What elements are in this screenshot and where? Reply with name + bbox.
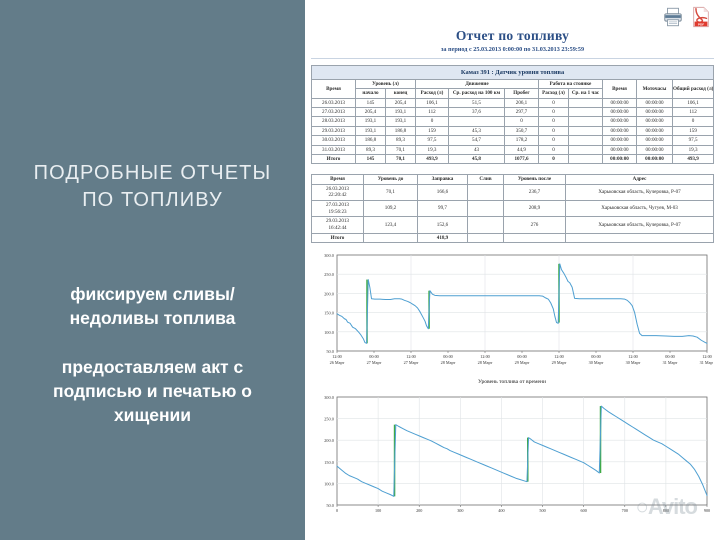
table-row: 30.03.2013186,889,397,554,7178,2000:00:0… [312,136,714,145]
svg-text:150.0: 150.0 [324,460,335,465]
svg-text:12:00: 12:00 [480,354,490,359]
svg-text:31 Март: 31 Март [663,360,678,365]
table-row: 26.03.2013145205,4106,151,5206,1000:00:0… [312,98,714,107]
svg-text:300.0: 300.0 [324,395,335,400]
th-уровень-после: Уровень после [504,175,566,185]
cell-date: 28.03.2013 [312,117,356,126]
svg-text:600: 600 [581,508,587,513]
svg-text:300: 300 [457,508,463,513]
svg-text:30 Март: 30 Март [589,360,604,365]
svg-text:250.0: 250.0 [324,417,335,422]
promo-sub-line2: недоливы топлива [0,306,305,330]
th-уровень-до: Уровень до [364,175,418,185]
report-title: Отчет по топливу [305,28,720,44]
th-заправка: Заправка [418,175,468,185]
svg-text:500: 500 [539,508,545,513]
promo-sub2-line3: хищении [0,403,305,427]
cell-datetime: 26.03.201322:20:42 [312,184,364,200]
svg-text:PDF: PDF [698,22,704,26]
svg-text:0: 0 [336,508,338,513]
fuel-events-table: ВремяУровень доЗаправкаСливУровень после… [311,174,714,243]
cell-refuel: 166,6 [418,184,468,200]
svg-text:28 Март: 28 Март [441,360,456,365]
cell-ptime: 00:00:00 [603,126,637,135]
cell-cons: 19,3 [416,145,449,154]
cell-moto: 00:00:00 [637,126,673,135]
th-park-consumption: Расход (л) [539,89,569,98]
svg-text:00:00: 00:00 [443,354,453,359]
cell-drain [468,217,504,233]
cell-start: 145 [356,154,386,163]
cell-total: 493,9 [673,154,714,163]
fuel-events-header: ВремяУровень доЗаправкаСливУровень после… [312,175,714,185]
svg-text:900: 900 [704,508,710,513]
cell-datetime: Итого [312,233,364,243]
cell-cons: 493,9 [416,154,449,163]
cell-start: 193,1 [356,117,386,126]
cell-datetime: 29.03.201316:42:44 [312,217,364,233]
promo-sub-line1: фиксируем сливы/ [0,282,305,306]
report-toolbar: PDF [662,6,712,28]
cell-date: 31.03.2013 [312,145,356,154]
cell-start: 89,3 [356,145,386,154]
cell-pcons: 0 [539,154,569,163]
cell-pcons: 0 [539,136,569,145]
fuel-events-body: 26.03.201322:20:4270,1166,6236,7Харьковс… [312,184,714,242]
cell-mileage: 206,1 [505,98,539,107]
th-movement-group: Движение [416,80,539,89]
events-header-row: ВремяУровень доЗаправкаСливУровень после… [312,175,714,185]
cell-total: 0 [673,117,714,126]
svg-text:250.0: 250.0 [324,272,335,277]
th-time: Время [312,80,356,99]
svg-text:26 Март: 26 Март [330,360,345,365]
svg-text:12:00: 12:00 [554,354,564,359]
title-divider [311,58,714,59]
svg-text:00:00: 00:00 [369,354,379,359]
cell-end: 193,1 [386,117,416,126]
svg-text:00:00: 00:00 [517,354,527,359]
promo-sub2-line2: подписью и печатью о [0,379,305,403]
cell-refuel: 418,9 [418,233,468,243]
svg-text:50.0: 50.0 [326,503,334,508]
cell-moto: 00:00:00 [637,145,673,154]
fuel-summary-table: Камаз 391 : Датчик уровня топлива Время … [311,65,714,164]
fuel-level-time-chart: 300.0250.0200.0150.0100.050.012:0026 Мар… [311,251,713,385]
cell-ptime: 00:00:00 [603,117,637,126]
svg-text:12:00: 12:00 [702,354,712,359]
report-panel: PDF Отчет по топливу за период с 25.03.2… [305,0,720,540]
th-level-start: начало [356,89,386,98]
cell-cons: 106,1 [416,98,449,107]
cell-mileage: 0 [505,117,539,126]
promo-panel: ПОДРОБНЫЕ ОТЧЕТЫ ПО ТОПЛИВУ фиксируем сл… [0,0,305,540]
cell-moto: 00:00:00 [637,136,673,145]
th-parking-time: Время [603,80,637,99]
cell-mileage: 1077,6 [505,154,539,163]
cell-cons: 0 [416,117,449,126]
cell-before: 109,2 [364,201,418,217]
slide-root: ПОДРОБНЫЕ ОТЧЕТЫ ПО ТОПЛИВУ фиксируем сл… [0,0,720,540]
svg-text:28 Март: 28 Март [478,360,493,365]
cell-end: 70,1 [386,145,416,154]
table-row: 26.03.201322:20:4270,1166,6236,7Харьковс… [312,184,714,200]
cell-total: 112 [673,108,714,117]
promo-subtext-1: фиксируем сливы/ недоливы топлива [0,282,305,330]
cell-avg100 [449,117,505,126]
th-level-end: конец [386,89,416,98]
cell-avg100: 45,3 [449,126,505,135]
svg-text:12:00: 12:00 [332,354,342,359]
svg-text:12:00: 12:00 [628,354,638,359]
th-адрес: Адрес [566,175,714,185]
th-move-consumption: Расход (л) [416,89,449,98]
cell-avg100: 51,5 [449,98,505,107]
cell-total: 159 [673,126,714,135]
cell-date: Итого [312,154,356,163]
svg-text:300.0: 300.0 [324,253,335,258]
cell-end: 205,4 [386,98,416,107]
cell-start: 145 [356,98,386,107]
table-row: 29.03.2013193,1186,815945,3350,7000:00:0… [312,126,714,135]
svg-text:100.0: 100.0 [324,482,335,487]
cell-mileage: 297,7 [505,108,539,117]
table-row: 27.03.2013205,4193,111237,6297,7000:00:0… [312,108,714,117]
cell-pavg [569,117,603,126]
promo-heading: ПОДРОБНЫЕ ОТЧЕТЫ ПО ТОПЛИВУ [0,160,305,214]
promo-heading-line2: ПО ТОПЛИВУ [0,187,305,214]
th-parking-group: Работа на стоянке [539,80,603,89]
cell-pavg [569,145,603,154]
cell-avg100: 43 [449,145,505,154]
cell-address: Харьковская область, Кучеровка, Р-07 [566,184,714,200]
printer-icon[interactable] [662,6,684,28]
th-время: Время [312,175,364,185]
pdf-export-icon[interactable]: PDF [690,6,712,28]
svg-text:27 Март: 27 Март [404,360,419,365]
cell-end: 193,1 [386,108,416,117]
cell-date: 26.03.2013 [312,98,356,107]
promo-subtext-2: предоставляем акт с подписью и печатью о… [0,355,305,427]
th-слив: Слив [468,175,504,185]
cell-cons: 159 [416,126,449,135]
cell-address: Харьковская область, Чугуев, М-03 [566,201,714,217]
svg-text:00:00: 00:00 [591,354,601,359]
cell-cons: 97,5 [416,136,449,145]
th-level-group: Уровень (л) [356,80,416,89]
svg-text:29 Март: 29 Март [552,360,567,365]
cell-start: 205,4 [356,108,386,117]
svg-text:200.0: 200.0 [324,292,335,297]
cell-after: 236,7 [504,184,566,200]
promo-heading-line1: ПОДРОБНЫЕ ОТЧЕТЫ [0,160,305,187]
cell-ptime: 00:00:00 [603,136,637,145]
cell-pavg [569,108,603,117]
cell-pcons: 0 [539,126,569,135]
cell-datetime: 27.03.201319:56:23 [312,201,364,217]
cell-pcons: 0 [539,117,569,126]
cell-avg100: 37,6 [449,108,505,117]
svg-text:100.0: 100.0 [324,330,335,335]
cell-date: 29.03.2013 [312,126,356,135]
cell-pcons: 0 [539,98,569,107]
table-row: 31.03.201389,370,119,34344,9000:00:0000:… [312,145,714,154]
table-group-header-row: Время Уровень (л) Движение Работа на сто… [312,80,714,89]
cell-address: Харьковская область, Кучеровка, Р-07 [566,217,714,233]
cell-ptime: 00:00:00 [603,154,637,163]
table-row: 27.03.201319:56:23109,299,7208,9Харьковс… [312,201,714,217]
cell-moto: 00:00:00 [637,98,673,107]
object-banner: Камаз 391 : Датчик уровня топлива [312,66,714,80]
cell-end: 186,8 [386,126,416,135]
fuel-level-index-chart: 300.0250.0200.0150.0100.050.001002003004… [311,393,713,526]
cell-drain [468,233,504,243]
cell-refuel: 99,7 [418,201,468,217]
cell-pavg [569,136,603,145]
cell-drain [468,201,504,217]
cell-ptime: 00:00:00 [603,108,637,117]
cell-pavg [569,154,603,163]
svg-text:29 Март: 29 Март [515,360,530,365]
cell-before: 70,1 [364,184,418,200]
svg-text:100: 100 [375,508,381,513]
cell-mileage: 44,9 [505,145,539,154]
cell-total: 97,5 [673,136,714,145]
cell-refuel: 152,6 [418,217,468,233]
svg-text:700: 700 [622,508,628,513]
cell-end: 89,3 [386,136,416,145]
cell-ptime: 00:00:00 [603,98,637,107]
cell-drain [468,184,504,200]
fuel-summary-body: 26.03.2013145205,4106,151,5206,1000:00:0… [312,98,714,164]
chart1-caption: Уровень топлива от времени [311,379,713,385]
svg-text:30 Март: 30 Март [626,360,641,365]
svg-text:27 Март: 27 Март [367,360,382,365]
th-motohours: Моточасы [637,80,673,99]
svg-text:200.0: 200.0 [324,438,335,443]
cell-pcons: 0 [539,145,569,154]
cell-avg100: 45,8 [449,154,505,163]
svg-text:800: 800 [663,508,669,513]
svg-text:200: 200 [416,508,422,513]
table-row: 28.03.2013193,1193,100000:00:0000:00:000 [312,117,714,126]
cell-address [566,233,714,243]
svg-text:400: 400 [498,508,504,513]
cell-before [364,233,418,243]
cell-total: 106,1 [673,98,714,107]
th-park-avg1h: Ср. на 1 час [569,89,603,98]
cell-mileage: 178,2 [505,136,539,145]
object-banner-row: Камаз 391 : Датчик уровня топлива [312,66,714,80]
cell-pavg [569,98,603,107]
cell-total: 19,3 [673,145,714,154]
cell-ptime: 00:00:00 [603,145,637,154]
report-subtitle: за период с 25.03.2013 0:00:00 по 31.03.… [305,46,720,53]
svg-text:31 Март: 31 Март [700,360,713,365]
cell-moto: 00:00:00 [637,108,673,117]
cell-cons: 112 [416,108,449,117]
cell-after: 276 [504,217,566,233]
cell-before: 123,4 [364,217,418,233]
cell-after: 208,9 [504,201,566,217]
cell-moto: 00:00:00 [637,154,673,163]
cell-date: 30.03.2013 [312,136,356,145]
cell-moto: 00:00:00 [637,117,673,126]
table-row: Итого14570,1493,945,81077,6000:00:0000:0… [312,154,714,163]
cell-start: 193,1 [356,126,386,135]
th-move-avg100: Ср. расход на 100 км [449,89,505,98]
promo-sub2-line1: предоставляем акт с [0,355,305,379]
svg-text:150.0: 150.0 [324,311,335,316]
cell-pavg [569,126,603,135]
th-total: Общий расход (л) [673,80,714,99]
table-row: 29.03.201316:42:44123,4152,6276Харьковск… [312,217,714,233]
svg-text:00:00: 00:00 [665,354,675,359]
th-mileage: Пробег [505,89,539,98]
table-row: Итого418,9 [312,233,714,243]
cell-mileage: 350,7 [505,126,539,135]
svg-text:12:00: 12:00 [406,354,416,359]
cell-date: 27.03.2013 [312,108,356,117]
cell-start: 186,8 [356,136,386,145]
cell-end: 70,1 [386,154,416,163]
cell-pcons: 0 [539,108,569,117]
cell-after [504,233,566,243]
cell-avg100: 54,7 [449,136,505,145]
